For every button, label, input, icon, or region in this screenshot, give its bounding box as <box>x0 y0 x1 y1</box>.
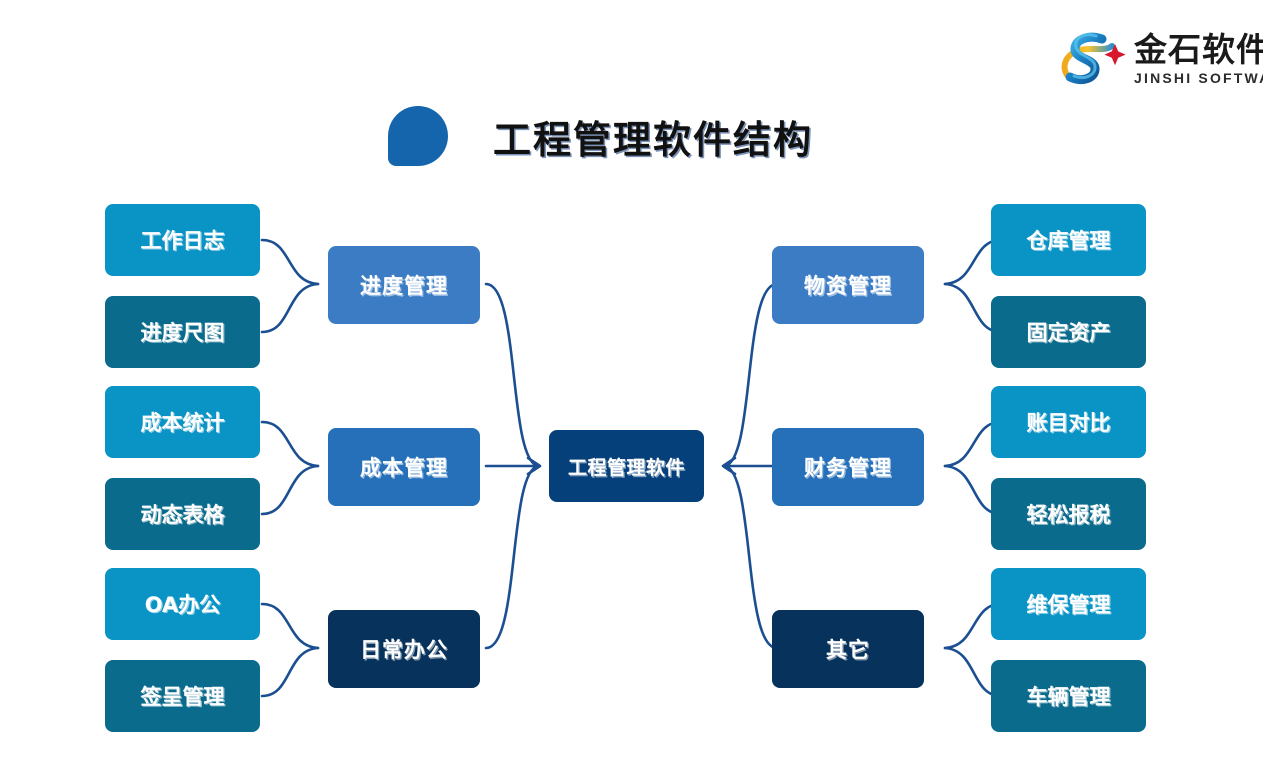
mindmap-diagram: 工作日志 进度尺图 成本统计 动态表格 OA办公 签呈管理 进度管理 成本管理 … <box>0 0 1263 781</box>
node-label: 固定资产 <box>1027 317 1111 347</box>
root-node[interactable]: 工程管理软件 <box>549 430 704 502</box>
branch-node[interactable]: 物资管理 <box>772 246 924 324</box>
node-label: OA办公 <box>145 589 221 619</box>
leaf-node[interactable]: 账目对比 <box>991 386 1146 458</box>
node-label: 成本统计 <box>141 407 225 437</box>
node-label: 工作日志 <box>141 225 225 255</box>
branch-node[interactable]: 日常办公 <box>328 610 480 688</box>
node-label: 维保管理 <box>1027 589 1111 619</box>
node-label: 动态表格 <box>141 499 225 529</box>
node-label: 成本管理 <box>360 452 448 482</box>
node-label: 签呈管理 <box>141 681 225 711</box>
node-label: 物资管理 <box>804 270 892 300</box>
leaf-node[interactable]: OA办公 <box>105 568 260 640</box>
node-label: 日常办公 <box>360 634 448 664</box>
node-label: 其它 <box>826 634 870 664</box>
leaf-node[interactable]: 成本统计 <box>105 386 260 458</box>
leaf-node[interactable]: 仓库管理 <box>991 204 1146 276</box>
leaf-node[interactable]: 维保管理 <box>991 568 1146 640</box>
node-label: 仓库管理 <box>1027 225 1111 255</box>
branch-node[interactable]: 成本管理 <box>328 428 480 506</box>
node-label: 进度尺图 <box>141 317 225 347</box>
leaf-node[interactable]: 轻松报税 <box>991 478 1146 550</box>
leaf-node[interactable]: 进度尺图 <box>105 296 260 368</box>
leaf-node[interactable]: 固定资产 <box>991 296 1146 368</box>
leaf-node[interactable]: 车辆管理 <box>991 660 1146 732</box>
branch-node[interactable]: 其它 <box>772 610 924 688</box>
node-label: 进度管理 <box>360 270 448 300</box>
slide-canvas: 金石软件 JINSHI SOFTWARE 工程管理软件结构 <box>0 0 1263 781</box>
node-label: 车辆管理 <box>1027 681 1111 711</box>
leaf-node[interactable]: 动态表格 <box>105 478 260 550</box>
node-label: 账目对比 <box>1027 407 1111 437</box>
branch-node[interactable]: 进度管理 <box>328 246 480 324</box>
node-label: 工程管理软件 <box>568 453 685 480</box>
branch-node[interactable]: 财务管理 <box>772 428 924 506</box>
leaf-node[interactable]: 签呈管理 <box>105 660 260 732</box>
leaf-node[interactable]: 工作日志 <box>105 204 260 276</box>
node-label: 财务管理 <box>804 452 892 482</box>
node-label: 轻松报税 <box>1027 499 1111 529</box>
